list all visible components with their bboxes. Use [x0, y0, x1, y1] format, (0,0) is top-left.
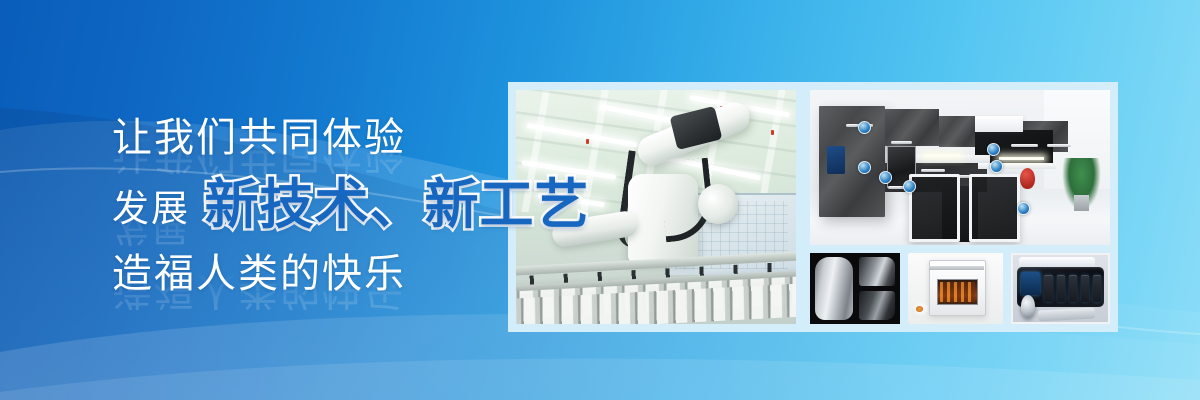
bar-stool — [969, 174, 1020, 242]
built-in-oven-thumb — [908, 253, 1003, 324]
panel-chrome-bar — [1037, 307, 1094, 321]
feature-badge — [879, 171, 892, 184]
control-display-screen — [1021, 272, 1040, 295]
control-knob[interactable] — [1021, 295, 1035, 318]
appliance-control-panel-thumb — [1011, 253, 1110, 324]
robot-wrist-joint — [698, 184, 738, 224]
control-button[interactable] — [1081, 275, 1089, 302]
control-button-row — [1044, 275, 1101, 302]
under-cabinet-light — [999, 157, 1044, 160]
oven-glass-door — [937, 279, 979, 305]
headline-line-2-accent: 新技术、新工艺 — [204, 178, 589, 232]
metal-panel-sample — [859, 257, 895, 286]
metal-panel-samples-thumb — [810, 253, 900, 324]
control-button[interactable] — [1093, 275, 1101, 302]
oven-control-trim — [929, 266, 984, 270]
cabinet-handle — [891, 141, 912, 144]
metal-panel-sample — [859, 291, 895, 320]
ceiling-marker-dot — [586, 139, 589, 144]
feature-badge — [903, 180, 916, 193]
feature-badge — [987, 143, 1000, 156]
cabinet-handle — [921, 169, 945, 172]
cabinet-handle — [1047, 144, 1071, 147]
promo-banner: 让我们共同体验 让我们共同体验 发展 新技术、新工艺 发展 造福人类的快乐 造福… — [0, 0, 1200, 400]
modern-kitchen-photo — [810, 90, 1110, 245]
food-plate — [912, 301, 928, 317]
feature-badge — [1017, 202, 1030, 215]
potted-plant — [1062, 158, 1101, 211]
control-button[interactable] — [1044, 275, 1052, 302]
control-button[interactable] — [1069, 275, 1077, 302]
headline-line-2: 发展 新技术、新工艺 发展 — [112, 178, 582, 246]
cabinet-handle — [1011, 144, 1038, 147]
feature-badge — [858, 121, 871, 134]
metal-panel-large — [815, 257, 853, 319]
fridge-dispenser-panel — [827, 146, 845, 174]
control-button[interactable] — [1057, 275, 1065, 302]
right-collage-column — [810, 90, 1110, 324]
under-cabinet-light — [924, 154, 960, 157]
bar-stool — [909, 174, 960, 242]
feature-badge — [990, 160, 1003, 173]
headline-line-3-text: 造福人类的快乐 — [112, 254, 406, 294]
range-hood — [975, 116, 1023, 132]
headline-line-1: 让我们共同体验 让我们共同体验 — [112, 118, 582, 174]
ceiling-marker-dot — [771, 130, 774, 135]
headline-block: 让我们共同体验 让我们共同体验 发展 新技术、新工艺 发展 造福人类的快乐 造福… — [112, 118, 582, 310]
red-kettle — [1020, 168, 1035, 190]
photo-collage-frame — [508, 82, 1118, 332]
headline-line-1-text: 让我们共同体验 — [112, 118, 406, 158]
headline-line-3: 造福人类的快乐 造福人类的快乐 — [112, 254, 582, 310]
thumbnail-row — [810, 253, 1110, 324]
headline-line-2-prefix: 发展 — [112, 190, 190, 227]
